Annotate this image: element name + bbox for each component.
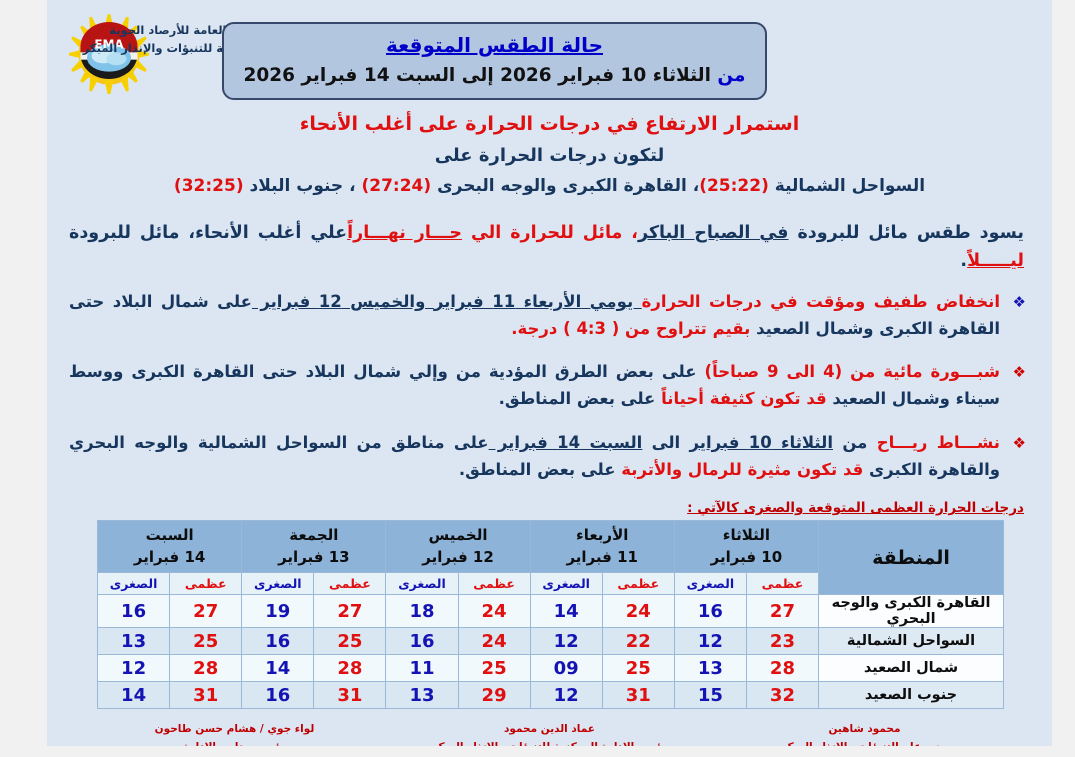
day-name: الجمعة [242, 525, 385, 547]
range-cairo-label: ، القاهرة الكبرى والوجه البحرى [437, 176, 699, 196]
cell-min-r1-d5: 16 [98, 595, 170, 628]
lead-seg-2: في الصباح الباكر [638, 223, 789, 243]
signatory-name: محمود شاهين [707, 721, 1022, 739]
subheader-min-day-3: الصغرى [386, 573, 458, 595]
range-north-coast-label: السواحل الشمالية [775, 176, 925, 196]
subheader-min-day-1: الصغرى [674, 573, 746, 595]
header-day-3: الخميس12 فبراير [386, 521, 530, 573]
cell-max-r2-d1: 23 [746, 628, 818, 655]
table-caption: درجات الحرارة العظمى المتوقعة والصغرى كا… [47, 500, 1024, 516]
bullet-1-segment-4: والخميس 12 فبراير [252, 292, 434, 311]
diamond-bullet-icon: ❖ [1013, 290, 1026, 314]
cell-min-r3-d5: 12 [98, 655, 170, 682]
header-day-4: الجمعة13 فبراير [242, 521, 386, 573]
cell-max-r3-d3: 25 [458, 655, 530, 682]
document-page: EMA الهيئة العامة للأرصاد الجوية الإدارة… [47, 0, 1052, 746]
lead-seg-3: ، مائل للحرارة الي [471, 223, 638, 243]
headline-temperature-ranges: السواحل الشمالية (25:22)، القاهرة الكبرى… [47, 174, 1052, 200]
cell-max-r2-d5: 25 [170, 628, 242, 655]
lead-seg-5: علي أغلب الأنحاء، مائل للبرودة [69, 223, 347, 243]
lead-seg-1: يسود طقس مائل للبرودة [797, 223, 1024, 243]
bullet-2-segment-4: على بعض المناطق. [499, 389, 661, 408]
cell-max-r4-d3: 29 [458, 682, 530, 709]
headline-block: استمرار الارتفاع في درجات الحرارة على أغ… [47, 110, 1052, 199]
cell-min-r2-d2: 12 [530, 628, 602, 655]
day-date: 13 فبراير [242, 547, 385, 569]
header-day-2: الأربعاء11 فبراير [530, 521, 674, 573]
bullet-2-segment-1: شبـــورة مائية من (4 الى 9 صباحاً) [705, 362, 1000, 381]
cell-min-r4-d1: 15 [674, 682, 746, 709]
day-name: الأربعاء [531, 525, 674, 547]
table-row: السواحل الشمالية23122212241625162513 [98, 628, 1004, 655]
signatory-name: عماد الدين محمود [392, 721, 707, 739]
cell-max-r3-d1: 28 [746, 655, 818, 682]
day-date: 14 فبراير [98, 547, 241, 569]
lead-seg-4: حـــار نهـــاراً [347, 223, 462, 243]
cell-min-r3-d4: 14 [242, 655, 314, 682]
cell-min-r1-d1: 16 [674, 595, 746, 628]
bullet-3-segment-1: نشـــاط ريـــاح [877, 433, 1000, 452]
cell-max-r4-d4: 31 [314, 682, 386, 709]
day-name: الثلاثاء [675, 525, 818, 547]
cell-max-r1-d2: 24 [602, 595, 674, 628]
table-row: القاهرة الكبرى والوجه البحري271624142418… [98, 595, 1004, 628]
signatory-name: لواء جوي / هشام حسن طاحون [77, 721, 392, 739]
bullet-3-segment-7: قد تكون مثيرة للرمال والأتربة [621, 460, 863, 479]
cell-min-r4-d4: 16 [242, 682, 314, 709]
cell-max-r1-d5: 27 [170, 595, 242, 628]
cell-min-r4-d3: 13 [386, 682, 458, 709]
day-name: السبت [98, 525, 241, 547]
lead-paragraph: يسود طقس مائل للبرودة في الصباح الباكر، … [69, 219, 1024, 275]
subheader-max-day-3: عظمى [458, 573, 530, 595]
day-date: 11 فبراير [531, 547, 674, 569]
cell-max-r1-d3: 24 [458, 595, 530, 628]
subheader-max-day-2: عظمى [602, 573, 674, 595]
cell-max-r4-d2: 31 [602, 682, 674, 709]
range-north-coast-value: (25:22) [699, 176, 769, 196]
range-south-value: (32:25) [174, 176, 244, 196]
headline-primary: استمرار الارتفاع في درجات الحرارة على أغ… [47, 110, 1052, 139]
cell-max-r1-d1: 27 [746, 595, 818, 628]
cell-min-r1-d2: 14 [530, 595, 602, 628]
cell-max-r1-d4: 27 [314, 595, 386, 628]
day-date: 12 فبراير [386, 547, 529, 569]
range-south-label: ، جنوب البلاد [250, 176, 362, 196]
cell-max-r4-d1: 32 [746, 682, 818, 709]
subheader-max-day-4: عظمى [314, 573, 386, 595]
bullet-3-segment-5: السبت 14 فبراير [489, 433, 643, 452]
cell-region-4: جنوب الصعيد [819, 682, 1004, 709]
header-day-5: السبت14 فبراير [98, 521, 242, 573]
cell-region-2: السواحل الشمالية [819, 628, 1004, 655]
forecast-bullet-list: ❖انخفاض طفيف ومؤقت في درجات الحرارة يومي… [69, 289, 1026, 483]
cell-min-r3-d3: 11 [386, 655, 458, 682]
page-title: حالة الطقس المتوقعة [224, 33, 765, 57]
subheader-min-day-5: الصغرى [98, 573, 170, 595]
table-row: جنوب الصعيد32153112291331163114 [98, 682, 1004, 709]
day-date: 10 فبراير [675, 547, 818, 569]
subheader-max-day-1: عظمى [746, 573, 818, 595]
bullet-2-segment-3: قد تكون كثيفة أحياناً [661, 389, 827, 408]
cell-max-r3-d5: 28 [170, 655, 242, 682]
cell-max-r2-d4: 25 [314, 628, 386, 655]
page-bottom-margin [0, 746, 1075, 754]
period-prefix: من [717, 65, 745, 86]
cell-max-r4-d5: 31 [170, 682, 242, 709]
cell-min-r2-d3: 16 [386, 628, 458, 655]
temperature-table-wrapper: المنطقة الثلاثاء10 فبرايرالأربعاء11 فبرا… [47, 520, 1052, 709]
forecast-title-box: حالة الطقس المتوقعة من الثلاثاء 10 فبراي… [222, 22, 767, 100]
forecast-period: من الثلاثاء 10 فبراير 2026 إلى السبت 14 … [224, 65, 765, 86]
forecast-bullet-3: ❖نشـــاط ريـــاح من الثلاثاء 10 فبراير ا… [69, 430, 1026, 483]
forecast-bullet-2: ❖شبـــورة مائية من (4 الى 9 صباحاً) على … [69, 359, 1026, 412]
header-region: المنطقة [819, 521, 1004, 595]
bullet-3-segment-2: من [833, 433, 877, 452]
subheader-max-day-5: عظمى [170, 573, 242, 595]
bullet-1-segment-2: يومي [581, 292, 641, 311]
table-header-days-row: المنطقة الثلاثاء10 فبرايرالأربعاء11 فبرا… [98, 521, 1004, 573]
cell-min-r1-d4: 19 [242, 595, 314, 628]
document-header: EMA الهيئة العامة للأرصاد الجوية الإدارة… [47, 0, 1052, 108]
table-row: شمال الصعيد28132509251128142812 [98, 655, 1004, 682]
forecast-bullet-1: ❖انخفاض طفيف ومؤقت في درجات الحرارة يومي… [69, 289, 1026, 342]
bullet-3-segment-4: الى [642, 433, 689, 452]
cell-max-r2-d3: 24 [458, 628, 530, 655]
day-name: الخميس [386, 525, 529, 547]
bullet-3-segment-8: على بعض المناطق. [459, 460, 621, 479]
cell-min-r2-d5: 13 [98, 628, 170, 655]
cell-min-r4-d2: 12 [530, 682, 602, 709]
cell-min-r2-d4: 16 [242, 628, 314, 655]
cell-min-r3-d2: 09 [530, 655, 602, 682]
cell-max-r3-d2: 25 [602, 655, 674, 682]
cell-min-r1-d3: 18 [386, 595, 458, 628]
diamond-bullet-icon: ❖ [1013, 431, 1026, 455]
table-head: المنطقة الثلاثاء10 فبرايرالأربعاء11 فبرا… [98, 521, 1004, 595]
bullet-3-segment-3: الثلاثاء 10 فبراير [690, 433, 833, 452]
table-body: القاهرة الكبرى والوجه البحري271624142418… [98, 595, 1004, 709]
subheader-min-day-4: الصغرى [242, 573, 314, 595]
cell-min-r4-d5: 14 [98, 682, 170, 709]
cell-region-1: القاهرة الكبرى والوجه البحري [819, 595, 1004, 628]
header-day-1: الثلاثاء10 فبراير [674, 521, 818, 573]
page-right-margin [1052, 0, 1075, 754]
cell-max-r3-d4: 28 [314, 655, 386, 682]
lead-seg-6: ليـــــلاً [967, 251, 1024, 271]
cell-max-r2-d2: 22 [602, 628, 674, 655]
temperature-table: المنطقة الثلاثاء10 فبرايرالأربعاء11 فبرا… [97, 520, 1004, 709]
bullet-1-segment-3: الأربعاء 11 فبراير [434, 292, 581, 311]
bullet-1-segment-6: بقيم تتراوح من ( 4:3 ) درجة. [511, 319, 750, 338]
headline-secondary: لتكون درجات الحرارة على [47, 142, 1052, 169]
bullet-1-segment-1: انخفاض طفيف ومؤقت في درجات الحرارة [642, 292, 1000, 311]
cell-region-3: شمال الصعيد [819, 655, 1004, 682]
subheader-min-day-2: الصغرى [530, 573, 602, 595]
cell-min-r3-d1: 13 [674, 655, 746, 682]
diamond-bullet-icon: ❖ [1013, 360, 1026, 384]
range-cairo-value: (27:24) [361, 176, 431, 196]
cell-min-r2-d1: 12 [674, 628, 746, 655]
period-range: الثلاثاء 10 فبراير 2026 إلى السبت 14 فبر… [243, 65, 710, 86]
